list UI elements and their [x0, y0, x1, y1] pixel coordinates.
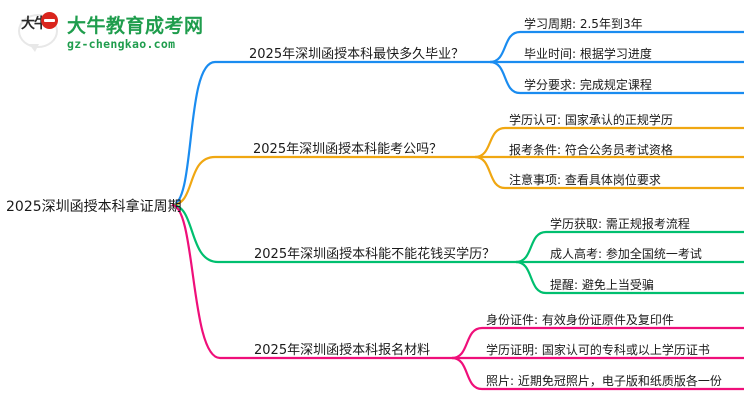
connector-root-to-branch-3 — [172, 205, 250, 262]
leaf-node-2-1[interactable]: 学历认可: 国家承认的正规学历 — [509, 111, 673, 128]
branch-node-3[interactable]: 2025年深圳函授本科能不能花钱买学历？ — [254, 243, 495, 262]
mindmap-canvas: 大牛 大牛教育成考网 gz-chengkao.com 2025深圳函授本科拿证周… — [0, 0, 750, 410]
branch-node-4[interactable]: 2025年深圳函授本科报名材料 — [254, 339, 430, 358]
leaf-node-3-2[interactable]: 成人高考: 参加全国统一考试 — [550, 245, 702, 262]
leaf-node-4-1[interactable]: 身份证件: 有效身份证原件及复印件 — [486, 311, 674, 328]
leaf-node-1-1[interactable]: 学习周期: 2.5年到3年 — [524, 15, 643, 32]
leaf-node-1-2[interactable]: 毕业时间: 根据学习进度 — [524, 45, 652, 62]
root-node[interactable]: 2025深圳函授本科拿证周期 — [6, 196, 182, 216]
logo-title: 大牛教育成考网 — [67, 16, 204, 37]
leaf-node-4-3[interactable]: 照片: 近期免冠照片，电子版和纸质版各一份 — [486, 372, 722, 389]
connector-root-to-branch-2 — [172, 157, 245, 205]
red-seal-icon — [41, 12, 58, 29]
connector-root-to-branch-4 — [172, 205, 250, 358]
leaf-node-4-2[interactable]: 学历证明: 国家认可的专科或以上学历证书 — [486, 341, 710, 358]
branch-node-2[interactable]: 2025年深圳函授本科能考公吗？ — [253, 138, 442, 157]
logo-mark-icon: 大牛 — [18, 12, 60, 54]
branch-node-1[interactable]: 2025年深圳函授本科最快多久毕业？ — [249, 43, 464, 62]
leaf-node-2-2[interactable]: 报考条件: 符合公务员考试资格 — [509, 141, 673, 158]
logo-url: gz-chengkao.com — [67, 37, 204, 51]
connector-root-to-branch-1 — [172, 62, 245, 205]
leaf-node-1-3[interactable]: 学分要求: 完成规定课程 — [524, 76, 652, 93]
site-logo: 大牛 大牛教育成考网 gz-chengkao.com — [18, 12, 204, 54]
leaf-node-2-3[interactable]: 注意事项: 查看具体岗位要求 — [509, 171, 661, 188]
leaf-node-3-3[interactable]: 提醒: 避免上当受骗 — [550, 276, 654, 293]
leaf-node-3-1[interactable]: 学历获取: 需正规报考流程 — [550, 215, 690, 232]
